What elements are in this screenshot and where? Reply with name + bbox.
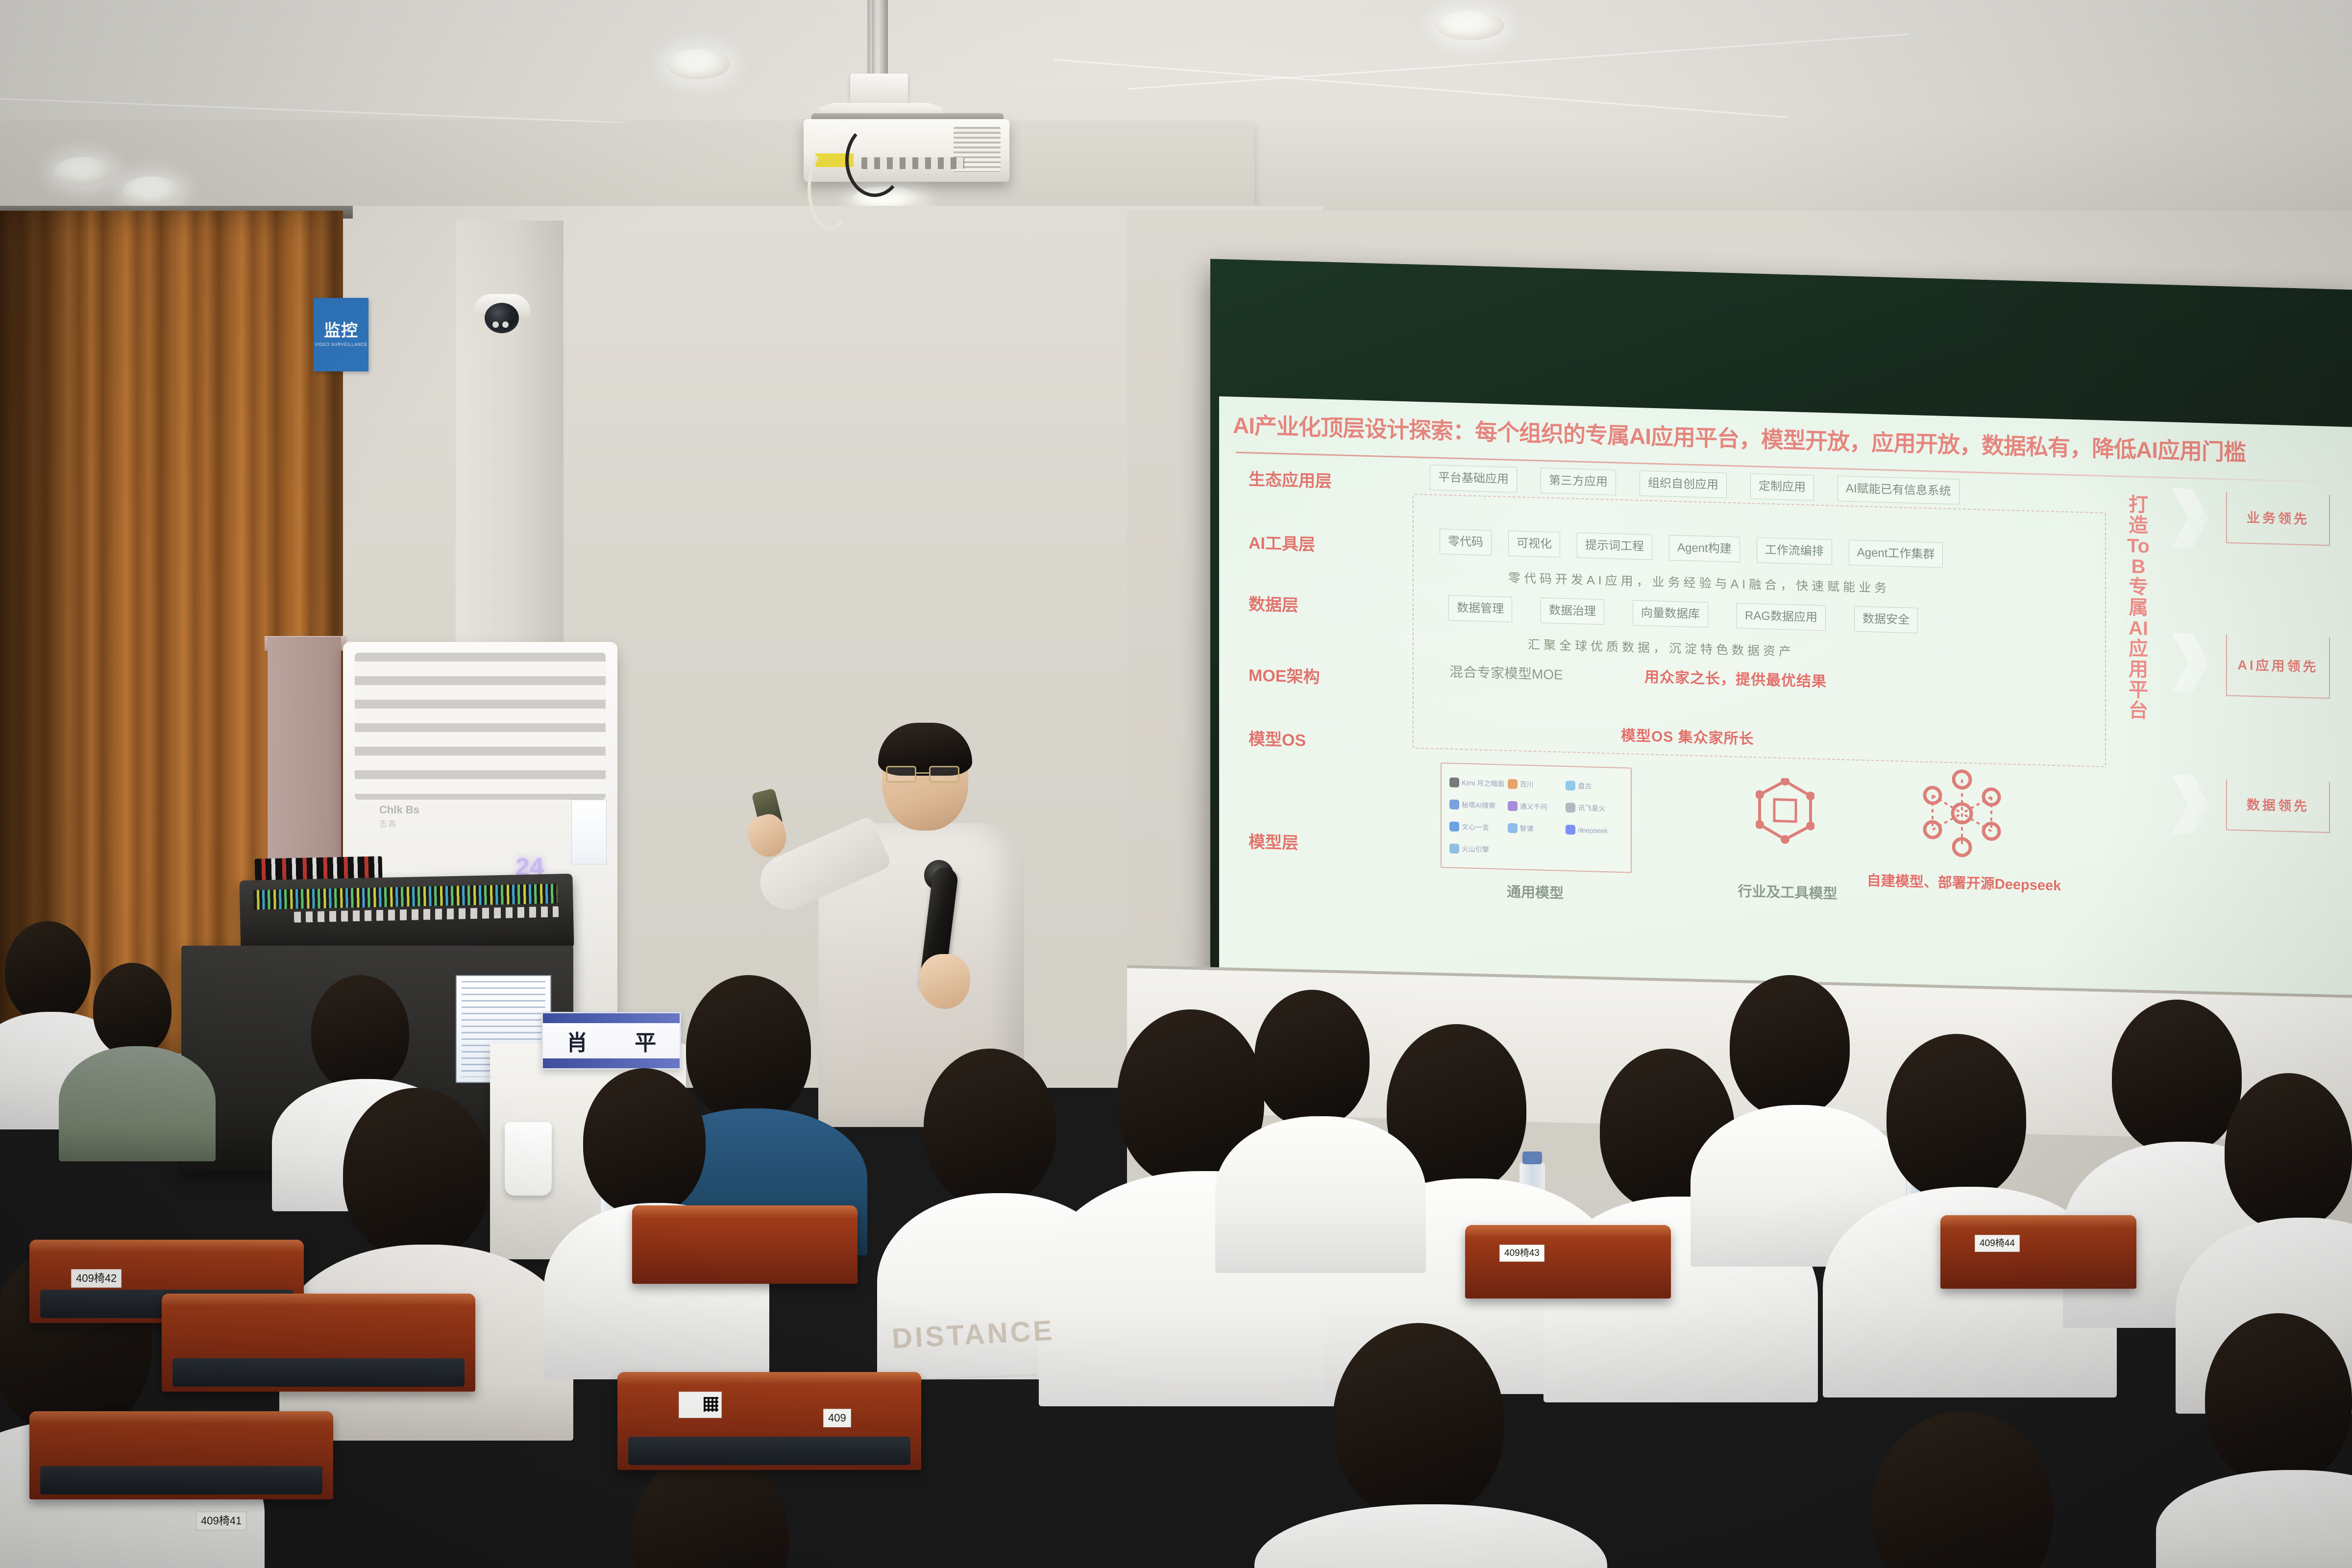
glasses-lens-left — [886, 766, 916, 783]
lecture-hall-photo: 监控 VIDEO SURVEILLANCE AI产业化顶层设计探索：每个组织的专… — [0, 0, 2352, 1568]
eco-app-chip[interactable]: 组织自创应用 — [1640, 470, 1727, 498]
vertical-slogan: 打造ToB专属AI应用平台 — [2123, 494, 2154, 722]
layer-label-eco: 生态应用层 — [1249, 465, 1332, 492]
model-logo-label: 百川 — [1520, 779, 1534, 789]
person-shoulders — [2156, 1470, 2352, 1568]
industry-model-caption: 行业及工具模型 — [1724, 880, 1851, 904]
ceiling-downlight — [1436, 11, 1504, 40]
qr-code-icon — [704, 1397, 718, 1412]
person-head — [1254, 990, 1370, 1127]
person-head — [93, 963, 171, 1056]
ceiling-downlight — [54, 157, 113, 185]
model-logo-item: 盘古 — [1566, 781, 1623, 792]
person-head — [583, 1068, 706, 1215]
surveillance-sign: 监控 VIDEO SURVEILLANCE — [314, 298, 368, 371]
audience-bench — [1465, 1225, 1671, 1298]
seat-tag: 409 — [823, 1409, 851, 1427]
model-logo-label: 盘古 — [1578, 781, 1592, 791]
layer-label-model: 模型层 — [1249, 828, 1298, 854]
presentation-slide: AI产业化顶层设计探索：每个组织的专属AI应用平台，模型开放，应用开放，数据私有… — [1219, 396, 2352, 1035]
self-built-model-caption: 自建模型、部署开源Deepseek — [1866, 872, 2062, 895]
audience-member — [2176, 1313, 2352, 1568]
data-chip[interactable]: 数据治理 — [1541, 598, 1604, 625]
model-logo-grid: Kimi 月之暗面 百川 盘古 秘塔AI搜索 通义千问 讯飞星火 文心一言 智谱… — [1449, 772, 1623, 864]
tongyi-logo-icon — [1508, 801, 1518, 811]
model-logo-label: 讯飞星火 — [1578, 803, 1605, 814]
model-logo-item: 通义千问 — [1508, 801, 1565, 812]
model-logo-item: 智谱 — [1508, 823, 1565, 834]
ceiling-downlight — [666, 49, 730, 79]
camera-lens — [485, 303, 519, 333]
model-os-tagline: 模型OS 集众家所长 — [1621, 723, 1754, 748]
model-logo-item: 百川 — [1508, 779, 1565, 790]
surveillance-sign-zh: 监控 — [324, 322, 358, 339]
baichuan-logo-icon — [1508, 779, 1518, 789]
self-built-model-network-icon — [1920, 766, 2004, 861]
outcome-box-ai-app: AI应用领先 — [2226, 634, 2330, 699]
model-logo-label: deepseek — [1578, 826, 1608, 835]
mixer-knob-row[interactable] — [253, 884, 558, 910]
ai-tool-chip[interactable]: 可视化 — [1508, 531, 1560, 558]
metaso-logo-icon — [1449, 799, 1459, 809]
model-logo-item: deepseek — [1566, 825, 1623, 836]
bench-backrest-top — [29, 1240, 304, 1252]
eco-app-chip[interactable]: 平台基础应用 — [1430, 465, 1517, 492]
presenter-right-hand — [919, 954, 970, 1009]
person-head — [924, 1049, 1056, 1205]
person-head — [311, 975, 409, 1090]
model-logo-item: 文心一言 — [1449, 822, 1507, 833]
model-logo-item: Kimi 月之暗面 — [1449, 777, 1507, 788]
bench-backrest-top — [617, 1372, 921, 1385]
person-head — [1886, 1034, 2026, 1200]
bench-seat-pad — [628, 1437, 910, 1465]
ac-energy-label-sticker — [571, 800, 607, 864]
ai-tool-chip[interactable]: 零代码 — [1440, 529, 1492, 556]
chevron-right-icon — [2172, 488, 2208, 548]
glasses-lens-right — [929, 766, 959, 783]
model-logo-item: 火山引擎 — [1449, 844, 1507, 855]
data-chip[interactable]: 数据管理 — [1448, 595, 1512, 622]
moe-label: 混合专家模型MOE — [1449, 661, 1563, 684]
seat-tag: 409椅41 — [196, 1512, 246, 1530]
ceiling-downlight — [122, 176, 181, 205]
deepseek-logo-icon — [1566, 825, 1575, 835]
spark-logo-icon — [1566, 803, 1575, 813]
bench-seat-pad — [172, 1358, 465, 1387]
person-head — [343, 1088, 490, 1259]
audience-member — [1842, 1034, 2078, 1387]
chevron-right-icon — [2172, 633, 2208, 692]
bench-backrest-top — [1465, 1225, 1671, 1238]
data-chip[interactable]: 数据安全 — [1854, 606, 1918, 634]
zhipu-logo-icon — [1508, 823, 1518, 833]
bench-backrest-top — [1940, 1215, 2136, 1228]
pangu-logo-icon — [1566, 781, 1575, 791]
nameplate-surname: 肖 — [566, 1025, 588, 1056]
ac-air-grille — [355, 653, 606, 800]
outcome-box-data: 数据领先 — [2226, 779, 2330, 833]
seat-asset-qr-tag — [679, 1392, 722, 1418]
industry-model-hexagon-icon — [1756, 777, 1814, 846]
model-logo-label: 文心一言 — [1462, 822, 1489, 833]
seat-tag: 409椅43 — [1499, 1245, 1544, 1262]
layer-label-modelos: 模型OS — [1249, 725, 1306, 751]
seat-tag: 409椅44 — [1975, 1235, 2020, 1252]
layer-label-moe: MOE架构 — [1249, 661, 1320, 687]
outcome-box-business: 业务领先 — [2226, 492, 2330, 546]
camera-ir-led — [492, 321, 499, 328]
seat-tag: 409椅42 — [71, 1269, 122, 1288]
audience-bench — [1940, 1215, 2136, 1289]
bench-backrest-top — [162, 1294, 475, 1306]
bench-backrest-top — [29, 1411, 333, 1424]
model-logo-item: 讯飞星火 — [1566, 803, 1623, 814]
ai-tool-chip[interactable]: 提示词工程 — [1577, 533, 1652, 560]
ai-tool-chip[interactable]: Agent构建 — [1669, 535, 1740, 563]
person-shoulders — [59, 1046, 216, 1161]
audience-member — [69, 963, 216, 1159]
general-model-logo-box: Kimi 月之暗面 百川 盘古 秘塔AI搜索 通义千问 讯飞星火 文心一言 智谱… — [1441, 762, 1632, 873]
ac-brand-label-zh: 志高 — [379, 817, 397, 829]
person-head — [1730, 975, 1850, 1117]
eco-app-chip[interactable]: 第三方应用 — [1541, 468, 1616, 495]
person-shoulders — [1254, 1504, 1607, 1568]
audience-member — [1220, 990, 1416, 1264]
audience-member — [1279, 1323, 1573, 1568]
bench-backrest-top — [632, 1205, 857, 1218]
model-logo-item — [1508, 850, 1565, 852]
person-head — [1872, 1411, 2053, 1568]
layer-label-data: 数据层 — [1249, 590, 1298, 616]
projector-cable-black — [845, 123, 904, 197]
bench-seat-pad — [40, 1466, 322, 1494]
mixer-fader-row[interactable] — [294, 906, 559, 923]
surveillance-sign-en: VIDEO SURVEILLANCE — [315, 342, 367, 347]
model-logo-label: 火山引擎 — [1462, 844, 1489, 855]
ac-brand-label: Chlk Bs — [379, 804, 419, 816]
model-logo-label: 通义千问 — [1520, 801, 1547, 812]
audience-bench — [162, 1294, 475, 1392]
layer-label-aitools: AI工具层 — [1249, 529, 1315, 555]
volcengine-logo-icon — [1449, 844, 1459, 854]
camera-ir-led — [502, 321, 509, 328]
audience-bench — [632, 1205, 857, 1284]
ceiling-projector — [725, 0, 1127, 274]
presenter-glasses — [886, 766, 965, 783]
model-logo-label: Kimi 月之暗面 — [1462, 778, 1504, 788]
layer-label-column: 生态应用层 AI工具层 数据层 MOE架构 模型OS 模型层 — [1249, 465, 1410, 470]
model-logo-item: 秘塔AI搜索 — [1449, 799, 1507, 810]
ai-tool-chip[interactable]: 工作流编排 — [1757, 538, 1832, 565]
data-chip[interactable]: RAG数据应用 — [1737, 603, 1826, 631]
glasses-bridge — [916, 772, 929, 774]
model-logo-label: 智谱 — [1520, 824, 1534, 834]
person-shoulders — [1215, 1116, 1426, 1273]
model-logo-label: 秘塔AI搜索 — [1462, 800, 1495, 810]
eco-app-chip[interactable]: 定制应用 — [1750, 473, 1814, 501]
security-camera-icon — [473, 294, 531, 336]
wenxin-logo-icon — [1449, 822, 1459, 832]
person-head — [1333, 1323, 1504, 1519]
projection-screen: AI产业化顶层设计探索：每个组织的专属AI应用平台，模型开放，应用开放，数据私有… — [1210, 259, 2352, 1044]
audio-mixer[interactable] — [239, 874, 574, 955]
kimi-logo-icon — [1449, 777, 1459, 787]
chevron-right-icon — [2172, 775, 2208, 834]
audience-bench — [29, 1411, 333, 1499]
projector-cable-white — [808, 147, 852, 230]
ai-tool-chip[interactable]: Agent工作集群 — [1849, 540, 1943, 568]
eco-app-chip[interactable]: AI赋能已有信息系统 — [1837, 476, 1960, 505]
audience-bench — [617, 1372, 921, 1470]
model-logo-item — [1566, 852, 1623, 853]
person-head — [2205, 1313, 2352, 1485]
general-model-caption: 通用模型 — [1474, 880, 1596, 904]
person-head — [2225, 1073, 2352, 1230]
data-chip[interactable]: 向量数据库 — [1633, 600, 1708, 628]
audience-member — [1813, 1411, 2117, 1568]
